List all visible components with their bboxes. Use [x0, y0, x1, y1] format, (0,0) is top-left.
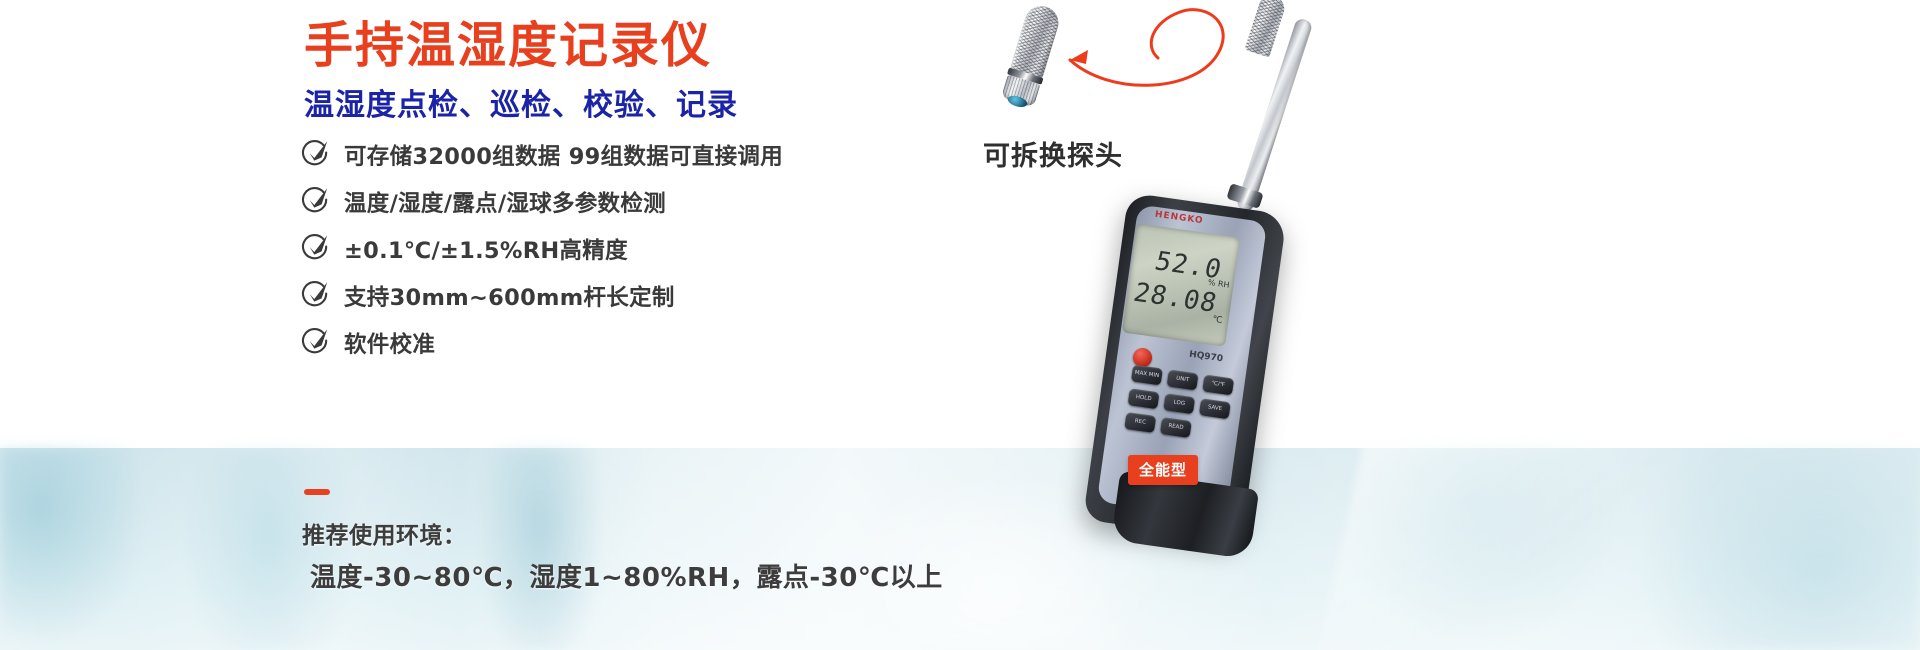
- device-key[interactable]: HOLD: [1128, 388, 1160, 409]
- curved-arrow-icon: [1040, 0, 1270, 100]
- circle-check-icon: [302, 189, 328, 215]
- usage-note-heading: 推荐使用环境：: [302, 516, 467, 550]
- product-banner: 手持温湿度记录仪 温湿度点检、巡检、校验、记录 可存储32000组数据 99组数…: [0, 0, 1920, 650]
- status-badge: 全能型: [1128, 455, 1198, 485]
- device-key[interactable]: ℃/℉: [1202, 374, 1234, 395]
- list-item: 可存储32000组数据 99组数据可直接调用: [302, 131, 783, 178]
- list-item: 支持30mm~600mm杆长定制: [302, 272, 783, 319]
- lcd-temperature-unit: ℃: [1212, 315, 1223, 326]
- list-item-label: 支持30mm~600mm杆长定制: [344, 280, 675, 312]
- circle-check-icon: [302, 283, 328, 309]
- device-key[interactable]: SAVE: [1199, 398, 1231, 419]
- list-item: 软件校准: [302, 319, 783, 366]
- list-item-label: 可存储32000组数据 99组数据可直接调用: [344, 139, 783, 171]
- page-title: 手持温湿度记录仪: [304, 6, 712, 77]
- page-subtitle: 温湿度点检、巡检、校验、记录: [304, 80, 738, 124]
- list-item-label: ±0.1℃/±1.5%RH高精度: [344, 233, 628, 265]
- device-key[interactable]: REC: [1124, 412, 1156, 433]
- usage-note-detail: 温度-30~80℃，湿度1~80%RH，露点-30℃以上: [310, 557, 943, 594]
- device-lcd-screen: 52.0 % RH 28.08 ℃: [1122, 223, 1240, 346]
- circle-check-icon: [302, 330, 328, 356]
- list-item-label: 温度/湿度/露点/湿球多参数检测: [344, 186, 666, 218]
- handheld-meter-image: HENGKO 52.0 % RH 28.08 ℃ HQ970 MAX MIN U…: [1085, 150, 1315, 650]
- device-key[interactable]: MAX MIN: [1131, 364, 1163, 385]
- banner-bottom-background: [0, 448, 1920, 650]
- list-item: 温度/湿度/露点/湿球多参数检测: [302, 178, 783, 225]
- feature-list: 可存储32000组数据 99组数据可直接调用 温度/湿度/露点/湿球多参数检测 …: [302, 131, 783, 366]
- circle-check-icon: [302, 236, 328, 262]
- device-key[interactable]: READ: [1160, 417, 1192, 438]
- accent-divider: [304, 489, 330, 495]
- lcd-temperature-value: 28.08: [1128, 278, 1220, 319]
- device-key[interactable]: UNIT: [1167, 369, 1199, 390]
- device-key[interactable]: LOG: [1163, 393, 1195, 414]
- banner-top-background: [0, 0, 1920, 448]
- circle-check-icon: [302, 142, 328, 168]
- list-item: ±0.1℃/±1.5%RH高精度: [302, 225, 783, 272]
- list-item-label: 软件校准: [344, 327, 435, 359]
